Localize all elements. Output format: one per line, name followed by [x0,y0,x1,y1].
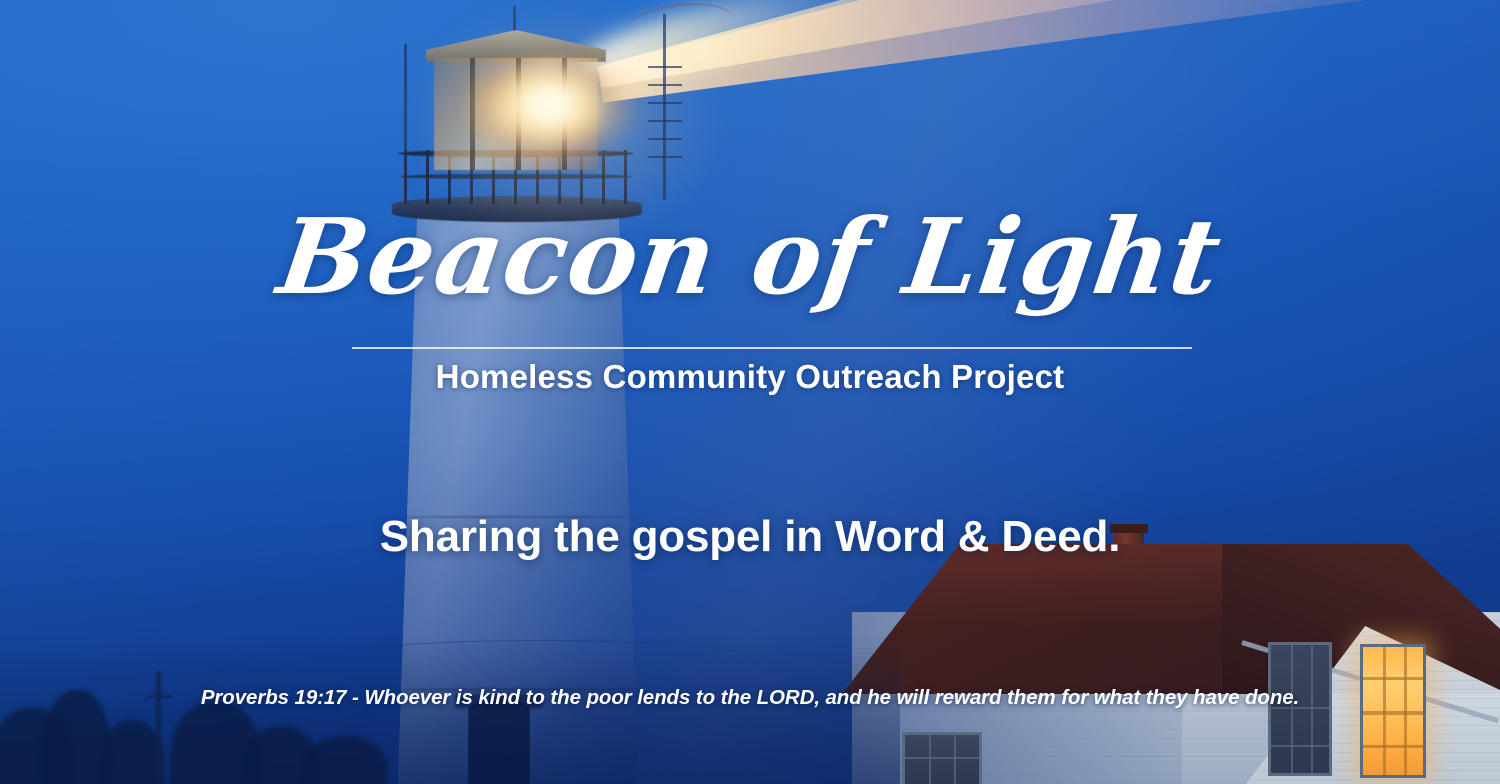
text-overlay: Beacon of Light Homeless Community Outre… [0,0,1500,784]
organization-subtitle: Homeless Community Outreach Project [0,358,1500,396]
scripture-verse: Proverbs 19:17 - Whoever is kind to the … [0,686,1500,710]
title-divider [352,347,1192,349]
hero-banner: Beacon of Light Homeless Community Outre… [0,0,1500,784]
page-title: Beacon of Light [0,196,1500,319]
mission-tagline: Sharing the gospel in Word & Deed. [0,512,1500,562]
